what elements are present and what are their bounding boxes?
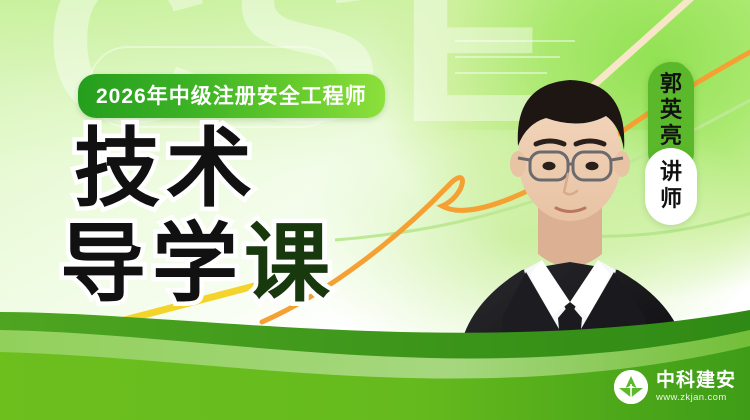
- instructor-role-char-2: 师: [645, 186, 697, 213]
- headline-line-2: 导学课: [60, 223, 336, 306]
- course-subtitle-badge: 2026年中级注册安全工程师: [78, 74, 385, 118]
- instructor-name-char-1: 郭: [648, 71, 694, 97]
- brand-logo: 中科建安 www.zkjan.com: [614, 370, 736, 404]
- brand-url: www.zkjan.com: [656, 393, 736, 403]
- instructor-role-char-1: 讲: [645, 159, 697, 186]
- headline-line-2-last: 课: [244, 216, 336, 312]
- instructor-role-badge: 讲 师: [645, 148, 697, 225]
- headline-line-1: 技术: [74, 128, 336, 211]
- instructor-name-char-2: 英: [648, 97, 694, 123]
- headline-line-2-main: 导学: [60, 216, 244, 312]
- mountain-star-icon: [614, 370, 648, 404]
- page-title: 技术 导学课: [68, 128, 336, 307]
- course-promo-banner: CSE: [0, 0, 750, 420]
- instructor-name-char-3: 亮: [648, 123, 694, 149]
- brand-text: 中科建安 www.zkjan.com: [656, 371, 736, 403]
- brand-name: 中科建安: [656, 371, 736, 390]
